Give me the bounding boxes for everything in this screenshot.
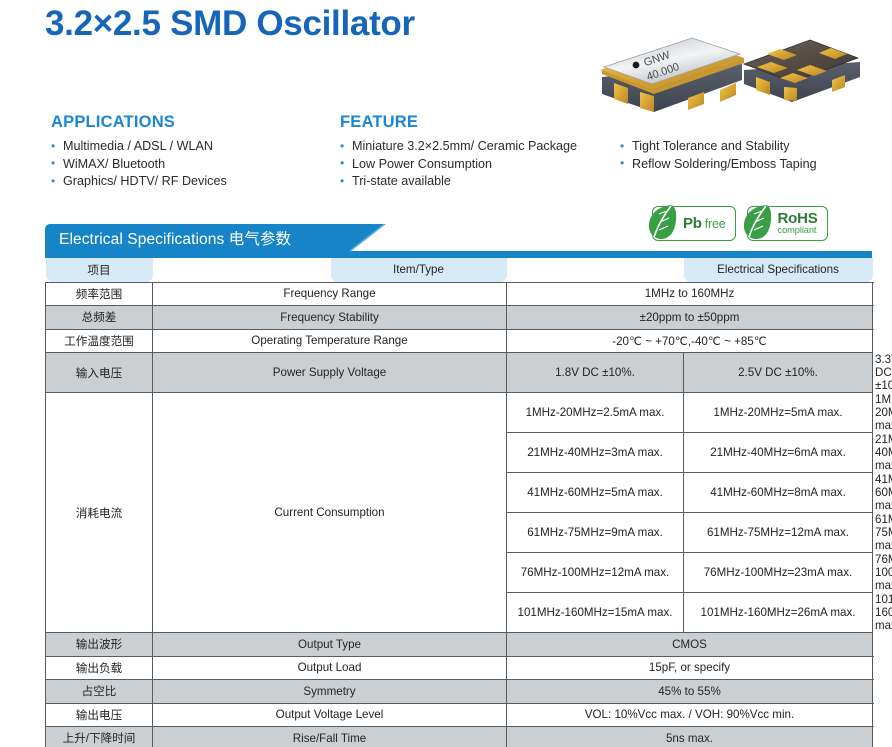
current-2v5: 1MHz-20MHz=5mA max. xyxy=(684,393,873,433)
row-label-en: Power Supply Voltage xyxy=(153,353,507,393)
row-value: 45% to 55% xyxy=(507,680,873,704)
header-item-en: Item/Type xyxy=(331,258,507,282)
applications-heading: APPLICATIONS xyxy=(51,113,175,132)
table-row: 输出电压 Output Voltage Level VOL: 10%Vcc ma… xyxy=(46,703,873,727)
feature-list-column-2: Tight Tolerance and Stability Reflow Sol… xyxy=(620,138,817,173)
current-2v5: 61MHz-75MHz=12mA max. xyxy=(684,513,873,553)
datasheet-page: 3.2×2.5 SMD Oscillator xyxy=(0,0,892,747)
electrical-specifications-table: 项目 Item/Type Electrical Specifications 频… xyxy=(45,258,873,747)
row-label-cn: 工作温度范围 xyxy=(46,329,153,353)
page-title: 3.2×2.5 SMD Oscillator xyxy=(45,4,415,44)
list-item: Low Power Consumption xyxy=(340,156,577,174)
ribbon-underline xyxy=(45,251,872,258)
row-label-cn: 输出负载 xyxy=(46,656,153,680)
table-row: 输出波形 Output Type CMOS xyxy=(46,633,873,657)
header-gap xyxy=(507,258,684,282)
ribbon-title: Electrical Specifications 电气参数 xyxy=(59,227,291,249)
row-value: 5ns max. xyxy=(507,727,873,747)
current-2v5: 76MHz-100MHz=23mA max. xyxy=(684,553,873,593)
current-1v8: 76MHz-100MHz=12mA max. xyxy=(507,553,684,593)
list-item: Miniature 3.2×2.5mm/ Ceramic Package xyxy=(340,138,577,156)
row-label-en: Current Consumption xyxy=(153,393,507,633)
table-row: 占空比 Symmetry 45% to 55% xyxy=(46,680,873,704)
row-value: -20℃ ~ +70℃,-40℃ ~ +85℃ xyxy=(507,329,873,353)
header-gap xyxy=(153,258,331,282)
table-row: 总频差 Frequency Stability ±20ppm to ±50ppm xyxy=(46,306,873,330)
list-item: Reflow Soldering/Emboss Taping xyxy=(620,156,817,174)
table-row: 上升/下降时间 Rise/Fall Time 5ns max. xyxy=(46,727,873,747)
table-row-current-consumption: 消耗电流 Current Consumption 1MHz-20MHz=2.5m… xyxy=(46,393,873,433)
header-electrical-specifications: Electrical Specifications xyxy=(684,258,873,282)
row-label-cn: 总频差 xyxy=(46,306,153,330)
current-1v8: 61MHz-75MHz=9mA max. xyxy=(507,513,684,553)
current-1v8: 101MHz-160MHz=15mA max. xyxy=(507,593,684,633)
table-row-power-supply-voltage: 输入电压 Power Supply Voltage 1.8V DC ±10%. … xyxy=(46,353,873,393)
row-label-en: Frequency Range xyxy=(153,282,507,306)
oscillator-bottom-view xyxy=(744,40,860,102)
oscillator-top-view: GNW 40.000 xyxy=(600,38,744,112)
current-2v5: 21MHz-40MHz=6mA max. xyxy=(684,433,873,473)
feature-heading: FEATURE xyxy=(340,113,418,132)
table-row: 输出负载 Output Load 15pF, or specify xyxy=(46,656,873,680)
header-item-cn: 项目 xyxy=(46,258,153,282)
row-label-cn: 输出波形 xyxy=(46,633,153,657)
row-label-cn: 频率范围 xyxy=(46,282,153,306)
row-value: CMOS xyxy=(507,633,873,657)
current-2v5: 101MHz-160MHz=26mA max. xyxy=(684,593,873,633)
row-label-en: Frequency Stability xyxy=(153,306,507,330)
list-item: WiMAX/ Bluetooth xyxy=(51,156,227,174)
current-1v8: 41MHz-60MHz=5mA max. xyxy=(507,473,684,513)
current-1v8: 21MHz-40MHz=3mA max. xyxy=(507,433,684,473)
row-label-cn: 上升/下降时间 xyxy=(46,727,153,747)
list-item: Graphics/ HDTV/ RF Devices xyxy=(51,173,227,191)
row-label-cn: 输入电压 xyxy=(46,353,153,393)
row-label-en: Rise/Fall Time xyxy=(153,727,507,747)
list-item: Multimedia / ADSL / WLAN xyxy=(51,138,227,156)
supply-voltage-2v5: 2.5V DC ±10%. xyxy=(684,353,873,393)
row-label-en: Output Load xyxy=(153,656,507,680)
list-item: Tight Tolerance and Stability xyxy=(620,138,817,156)
feature-list-column-1: Miniature 3.2×2.5mm/ Ceramic Package Low… xyxy=(340,138,577,191)
applications-list: Multimedia / ADSL / WLAN WiMAX/ Bluetoot… xyxy=(51,138,227,191)
table-row: 频率范围 Frequency Range 1MHz to 160MHz xyxy=(46,282,873,306)
row-value: ±20ppm to ±50ppm xyxy=(507,306,873,330)
product-photo: GNW 40.000 xyxy=(592,22,864,114)
row-label-en: Symmetry xyxy=(153,680,507,704)
row-value: 15pF, or specify xyxy=(507,656,873,680)
row-value: 1MHz to 160MHz xyxy=(507,282,873,306)
row-label-cn: 消耗电流 xyxy=(46,393,153,633)
table-header-row: 项目 Item/Type Electrical Specifications xyxy=(46,258,873,282)
list-item: Tri-state available xyxy=(340,173,577,191)
table-row: 工作温度范围 Operating Temperature Range -20℃ … xyxy=(46,329,873,353)
current-2v5: 41MHz-60MHz=8mA max. xyxy=(684,473,873,513)
supply-voltage-1v8: 1.8V DC ±10%. xyxy=(507,353,684,393)
row-label-en: Output Type xyxy=(153,633,507,657)
row-label-cn: 占空比 xyxy=(46,680,153,704)
ribbon-fold xyxy=(350,224,386,252)
row-label-cn: 输出电压 xyxy=(46,703,153,727)
current-1v8: 1MHz-20MHz=2.5mA max. xyxy=(507,393,684,433)
row-value: VOL: 10%Vcc max. / VOH: 90%Vcc min. xyxy=(507,703,873,727)
row-label-en: Operating Temperature Range xyxy=(153,329,507,353)
section-ribbon: Electrical Specifications 电气参数 xyxy=(45,224,872,258)
row-label-en: Output Voltage Level xyxy=(153,703,507,727)
